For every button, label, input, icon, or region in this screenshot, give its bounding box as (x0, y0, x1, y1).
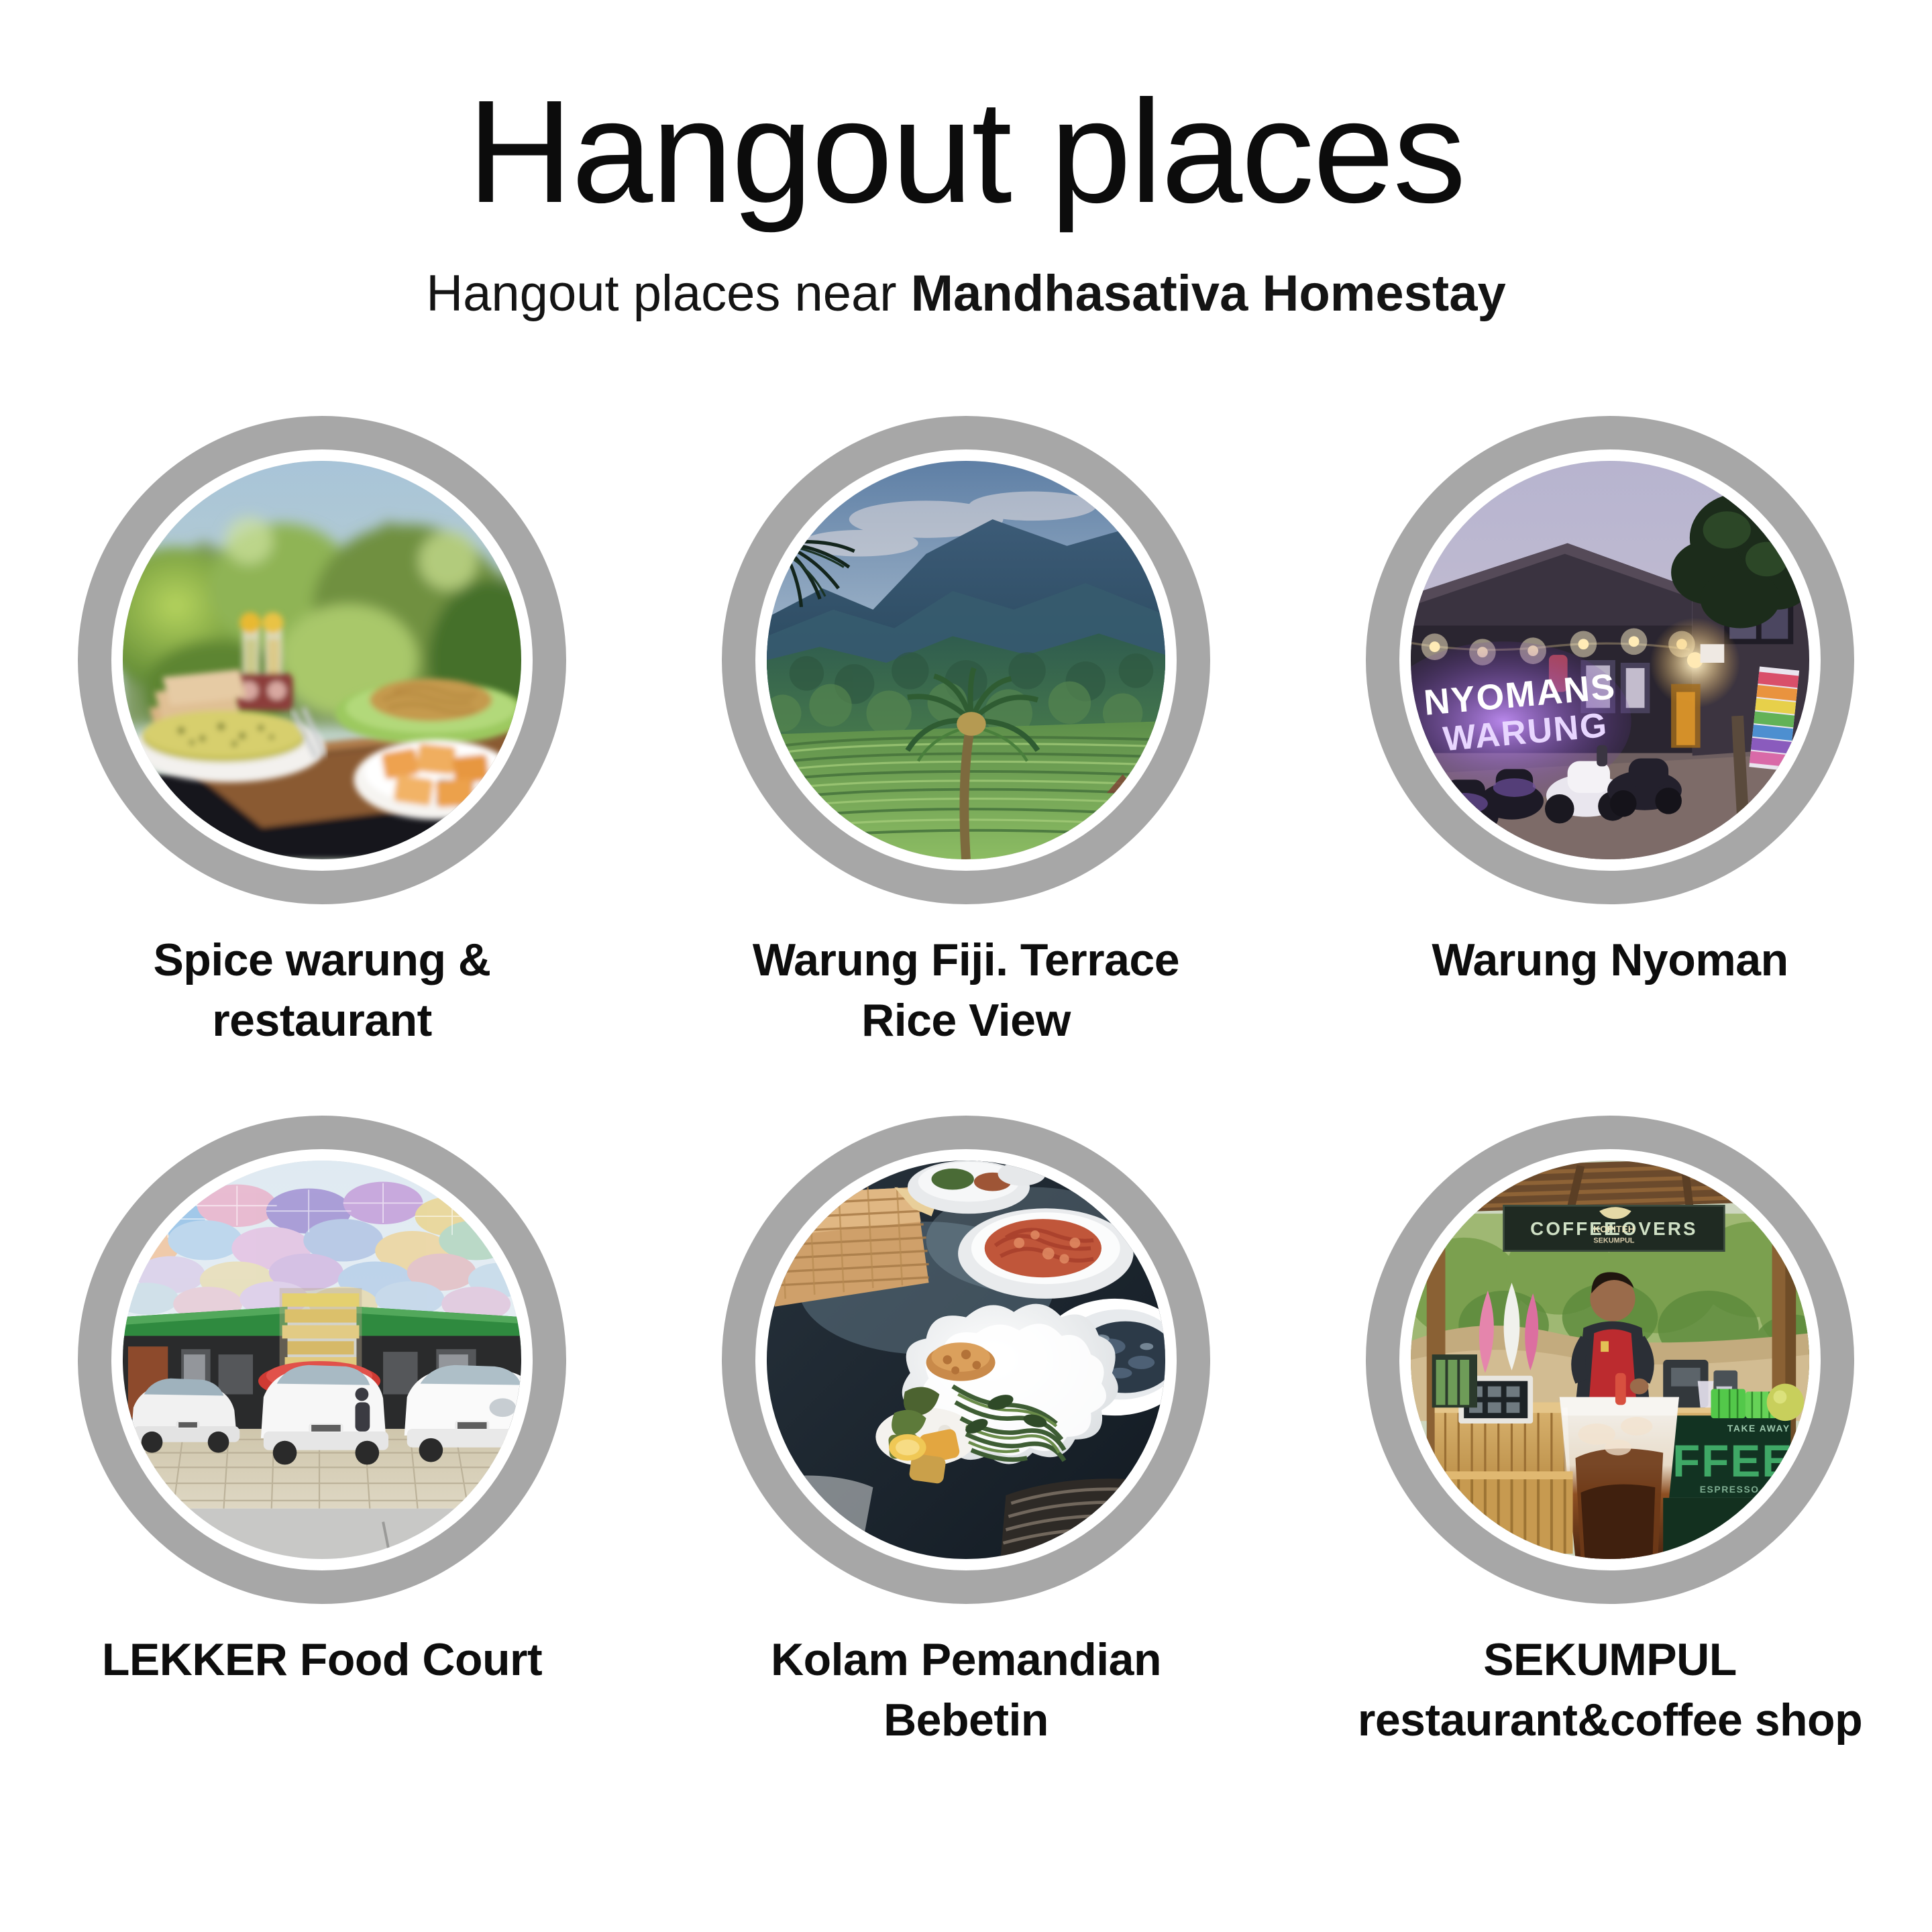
hangout-card-caption: Kolam Pemandian Bebetin (711, 1629, 1221, 1751)
sekumpul-coffee-shop-photo: COFFEE LOVERS KOPITEH SEKUMPUL (1411, 1161, 1809, 1559)
hangout-card-caption: Warung Fiji. Terrace Rice View (711, 930, 1221, 1051)
warung-fiji-rice-terrace-photo (767, 461, 1165, 859)
lekker-food-court-illustration (123, 1161, 521, 1559)
lekker-food-court-umbrellas-photo (123, 1161, 521, 1559)
rice-terrace-illustration (767, 461, 1165, 859)
hangout-card[interactable]: COFFEE LOVERS KOPITEH SEKUMPUL (1288, 1116, 1932, 1751)
page-subtitle-prefix: Hangout places near (426, 265, 910, 322)
photo-ring-inner-gap: COFFEE LOVERS KOPITEH SEKUMPUL (1399, 1149, 1821, 1570)
photo-ring (78, 1116, 566, 1604)
poster-root: Hangout places Hangout places near Mandh… (0, 0, 1932, 1932)
spice-warung-food-table-illustration (123, 461, 521, 859)
page-subtitle-homestay-name: Mandhasativa Homestay (911, 265, 1506, 322)
poster-header: Hangout places Hangout places near Mandh… (0, 0, 1932, 323)
photo-ring (722, 1116, 1210, 1604)
hangout-card[interactable]: LEKKER Food Court (0, 1116, 644, 1751)
spice-warung-food-table-photo (123, 461, 521, 859)
hangout-card[interactable]: Warung Fiji. Terrace Rice View (644, 416, 1288, 1051)
photo-ring: COFFEE LOVERS KOPITEH SEKUMPUL (1366, 1116, 1854, 1604)
hangout-card-caption: Spice warung & restaurant (67, 930, 577, 1051)
photo-ring-inner-gap (111, 449, 533, 871)
photo-ring-inner-gap (755, 449, 1177, 871)
hangout-places-grid: Spice warung & restaurant (0, 416, 1932, 1751)
balinese-meal-illustration (767, 1161, 1165, 1559)
giant-iced-coffee-cup-display (1560, 1373, 1679, 1559)
photo-ring-inner-gap: NYOMANS WARUNG (1399, 449, 1821, 871)
hangout-card-caption: LEKKER Food Court (80, 1629, 563, 1690)
warung-nyoman-neon-sign-photo: NYOMANS WARUNG (1411, 461, 1809, 859)
photo-ring-inner-gap (755, 1149, 1177, 1570)
page-subtitle: Hangout places near Mandhasativa Homesta… (0, 264, 1932, 323)
warung-nyoman-illustration: NYOMANS WARUNG (1411, 461, 1809, 859)
coffee-sign-takeaway-text: TAKE AWAY (1727, 1423, 1790, 1434)
logo-text-kopiteh: KOPITEH (1593, 1224, 1635, 1234)
hangout-card[interactable]: Spice warung & restaurant (0, 416, 644, 1051)
hangout-card[interactable]: NYOMANS WARUNG (1288, 416, 1932, 1051)
coffee-lovers-banner: COFFEE LOVERS KOPITEH SEKUMPUL (1504, 1205, 1725, 1250)
hangout-card[interactable]: Kolam Pemandian Bebetin (644, 1116, 1288, 1751)
photo-ring (78, 416, 566, 904)
coffee-sign-espresso-text: ESPRESSO (1700, 1484, 1760, 1495)
photo-ring-inner-gap (111, 1149, 533, 1570)
logo-text-sekumpul: SEKUMPUL (1593, 1237, 1634, 1245)
hangout-card-caption: Warung Nyoman (1368, 930, 1851, 990)
sekumpul-coffee-stall-illustration: COFFEE LOVERS KOPITEH SEKUMPUL (1411, 1161, 1809, 1559)
kolam-pemandian-bebetin-meal-photo (767, 1161, 1165, 1559)
photo-ring (722, 416, 1210, 904)
page-title: Hangout places (0, 79, 1932, 225)
photo-ring: NYOMANS WARUNG (1366, 416, 1854, 904)
hangout-card-caption: SEKUMPUL restaurant&coffee shop (1355, 1629, 1865, 1751)
